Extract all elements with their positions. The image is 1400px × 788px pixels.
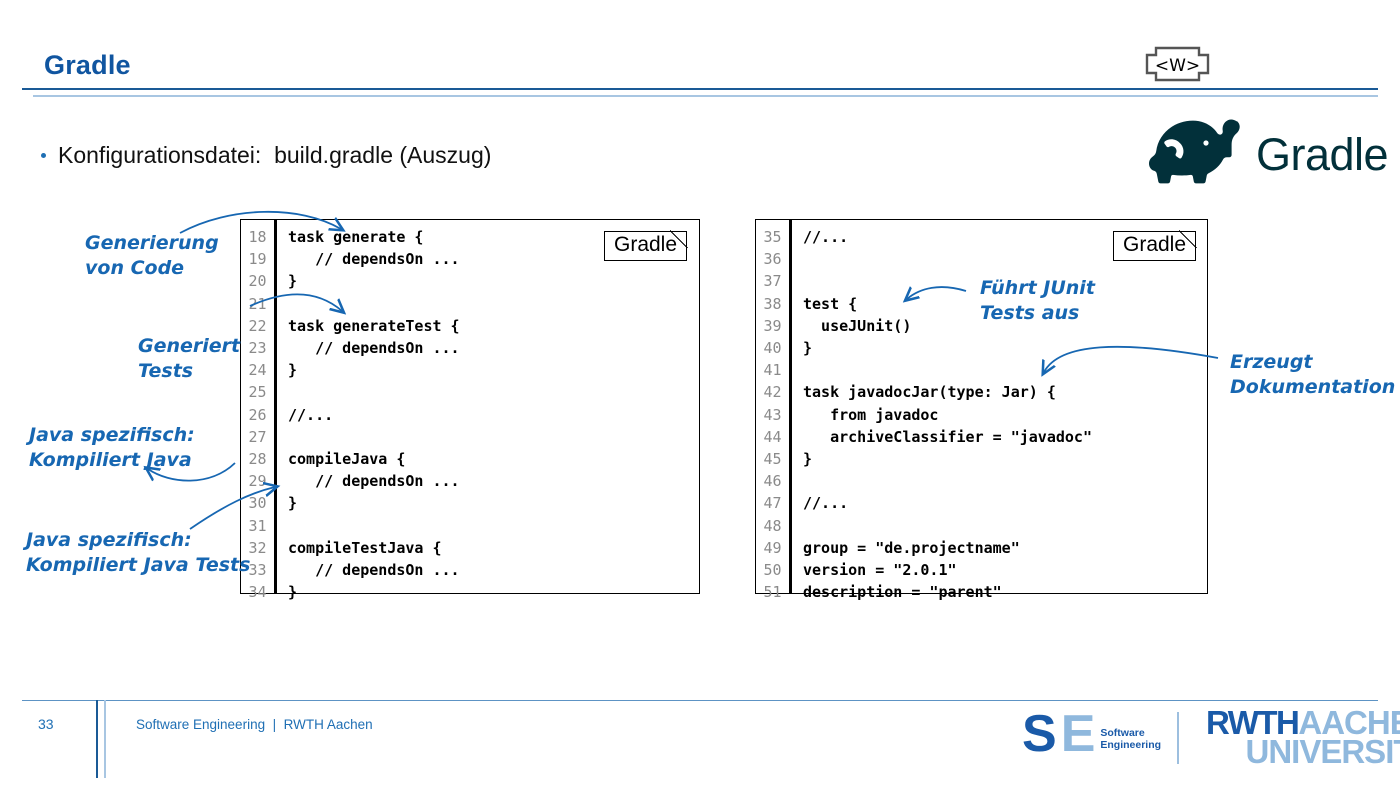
line-number: 49 — [756, 537, 789, 559]
bullet-item: Konfigurationsdatei: build.gradle (Auszu… — [41, 142, 491, 169]
folded-corner-icon — [670, 230, 688, 248]
line-number: 25 — [241, 381, 274, 403]
code-line: // dependsOn ... — [288, 470, 699, 492]
header-divider-light — [33, 95, 1378, 97]
annotation-generierung-von-code: Generierungvon Code — [85, 231, 219, 281]
header-divider-dark — [22, 88, 1378, 90]
line-number: 43 — [756, 404, 789, 426]
code-line: group = "de.projectname" — [803, 537, 1207, 559]
line-number: 51 — [756, 581, 789, 603]
annotation-line: Kompiliert Java — [29, 449, 192, 471]
line-number: 36 — [756, 248, 789, 270]
bullet-label: Konfigurationsdatei: build.gradle (Auszu… — [58, 142, 491, 169]
code-line: version = "2.0.1" — [803, 559, 1207, 581]
se-logo-subtitle-line1: Software — [1100, 727, 1144, 739]
gradle-brand-logo: Gradle — [1148, 118, 1388, 191]
annotation-fuehrt-junit-tests-aus: Führt JUnitTests aus — [980, 276, 1095, 326]
code-line: //... — [288, 404, 699, 426]
annotation-line: Kompiliert Java Tests — [26, 554, 250, 576]
annotation-line: Generiert — [138, 335, 240, 357]
code-line: task javadocJar(type: Jar) { — [803, 381, 1207, 403]
gradle-badge-right-label: Gradle — [1123, 233, 1186, 256]
line-number-gutter-right: 3536373839404142434445464748495051 — [756, 220, 792, 593]
bullet-dot-icon — [41, 153, 46, 158]
line-number: 39 — [756, 315, 789, 337]
code-line — [803, 359, 1207, 381]
se-logo: S E Software Engineering — [1022, 712, 1161, 757]
line-number: 24 — [241, 359, 274, 381]
code-line: from javadoc — [803, 404, 1207, 426]
annotation-kompiliert-java-tests: Java spezifisch:Kompiliert Java Tests — [26, 528, 250, 578]
code-line: archiveClassifier = "javadoc" — [803, 426, 1207, 448]
code-line: //... — [803, 492, 1207, 514]
code-line: compileTestJava { — [288, 537, 699, 559]
line-number: 40 — [756, 337, 789, 359]
gradle-badge-left-label: Gradle — [614, 233, 677, 256]
code-line — [288, 381, 699, 403]
line-number: 29 — [241, 470, 274, 492]
annotation-line: Tests — [138, 360, 193, 382]
se-logo-s: S — [1022, 712, 1055, 757]
line-number: 44 — [756, 426, 789, 448]
code-line: } — [288, 581, 699, 603]
line-number: 34 — [241, 581, 274, 603]
se-logo-e: E — [1061, 712, 1095, 757]
svg-text:<W>: <W> — [1155, 56, 1200, 76]
annotation-line: Erzeugt — [1230, 351, 1313, 373]
code-line: compileJava { — [288, 448, 699, 470]
footer-label: Software Engineering | RWTH Aachen — [136, 717, 373, 732]
code-line: // dependsOn ... — [288, 337, 699, 359]
footer-divider — [22, 700, 1378, 701]
annotation-line: Java spezifisch: — [26, 529, 192, 551]
logo-divider — [1177, 712, 1179, 764]
code-line: } — [288, 270, 699, 292]
line-number: 30 — [241, 492, 274, 514]
se-logo-subtitle: Software Engineering — [1100, 727, 1161, 757]
rwth-logo-university: UNIVERSITY — [1206, 737, 1400, 766]
footer-vertical-bar-light — [104, 700, 106, 778]
annotation-line: Tests aus — [980, 302, 1079, 324]
line-number: 35 — [756, 226, 789, 248]
line-number: 22 — [241, 315, 274, 337]
line-number: 41 — [756, 359, 789, 381]
line-number: 19 — [241, 248, 274, 270]
gradle-badge-left: Gradle — [604, 231, 687, 261]
line-number: 46 — [756, 470, 789, 492]
code-line: task generateTest { — [288, 315, 699, 337]
code-line — [288, 515, 699, 537]
gradle-elephant-icon — [1148, 118, 1246, 191]
annotation-kompiliert-java: Java spezifisch:Kompiliert Java — [29, 423, 195, 473]
line-number: 20 — [241, 270, 274, 292]
code-line — [803, 470, 1207, 492]
code-line: description = "parent" — [803, 581, 1207, 603]
annotation-generiert-tests: GeneriertTests — [138, 334, 240, 384]
code-line — [803, 515, 1207, 537]
page-title: Gradle — [44, 50, 131, 81]
line-number: 26 — [241, 404, 274, 426]
code-line: } — [803, 337, 1207, 359]
page-number: 33 — [38, 716, 54, 732]
line-number: 27 — [241, 426, 274, 448]
annotation-erzeugt-dokumentation: ErzeugtDokumentation — [1230, 350, 1395, 400]
code-line: } — [803, 448, 1207, 470]
annotation-line: Führt JUnit — [980, 277, 1095, 299]
se-logo-subtitle-line2: Engineering — [1100, 739, 1161, 751]
annotation-line: Dokumentation — [1230, 376, 1395, 398]
annotation-line: von Code — [85, 257, 184, 279]
rwth-logo: RWTHAACHEN UNIVERSITY — [1206, 708, 1400, 766]
line-number: 28 — [241, 448, 274, 470]
line-number: 42 — [756, 381, 789, 403]
line-number: 45 — [756, 448, 789, 470]
code-line — [288, 426, 699, 448]
footer-vertical-bar-dark — [96, 700, 98, 778]
code-area-left: task generate { // dependsOn ...} task g… — [277, 220, 699, 593]
code-line: } — [288, 359, 699, 381]
line-number: 50 — [756, 559, 789, 581]
line-number: 18 — [241, 226, 274, 248]
line-number: 38 — [756, 293, 789, 315]
code-line — [288, 293, 699, 315]
code-line: } — [288, 492, 699, 514]
code-block-left: 1819202122232425262728293031323334 task … — [240, 219, 700, 594]
gradle-badge-right: Gradle — [1113, 231, 1196, 261]
line-number: 37 — [756, 270, 789, 292]
line-number: 48 — [756, 515, 789, 537]
annotation-line: Generierung — [85, 232, 219, 254]
line-number: 23 — [241, 337, 274, 359]
line-number: 47 — [756, 492, 789, 514]
w-corner-logo-icon: <W> — [1145, 46, 1210, 82]
code-line: // dependsOn ... — [288, 559, 699, 581]
gradle-wordmark-label: Gradle — [1256, 132, 1388, 177]
annotation-line: Java spezifisch: — [29, 424, 195, 446]
folded-corner-icon — [1179, 230, 1197, 248]
line-number: 21 — [241, 293, 274, 315]
